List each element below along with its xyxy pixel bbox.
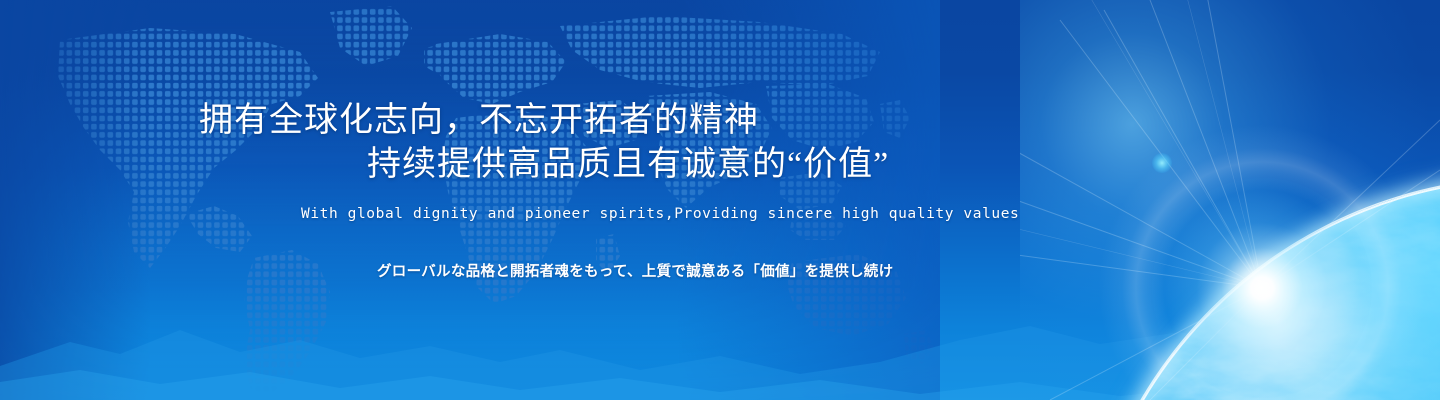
headline-line-1: 拥有全球化志向，不忘开拓者的精神 <box>199 92 759 141</box>
banner-text-block: 拥有全球化志向，不忘开拓者的精神 持续提供高品质且有诚意的“价值” With g… <box>0 0 1440 400</box>
subtitle-english: With global dignity and pioneer spirits,… <box>301 206 1019 222</box>
hero-banner: 拥有全球化志向，不忘开拓者的精神 持续提供高品质且有诚意的“价值” With g… <box>0 0 1440 400</box>
subtitle-japanese: グローバルな品格と開拓者魂をもって、上質で誠意ある「価値」を提供し続け <box>377 260 893 281</box>
headline-line-2: 持续提供高品质且有诚意的“价值” <box>367 136 889 185</box>
